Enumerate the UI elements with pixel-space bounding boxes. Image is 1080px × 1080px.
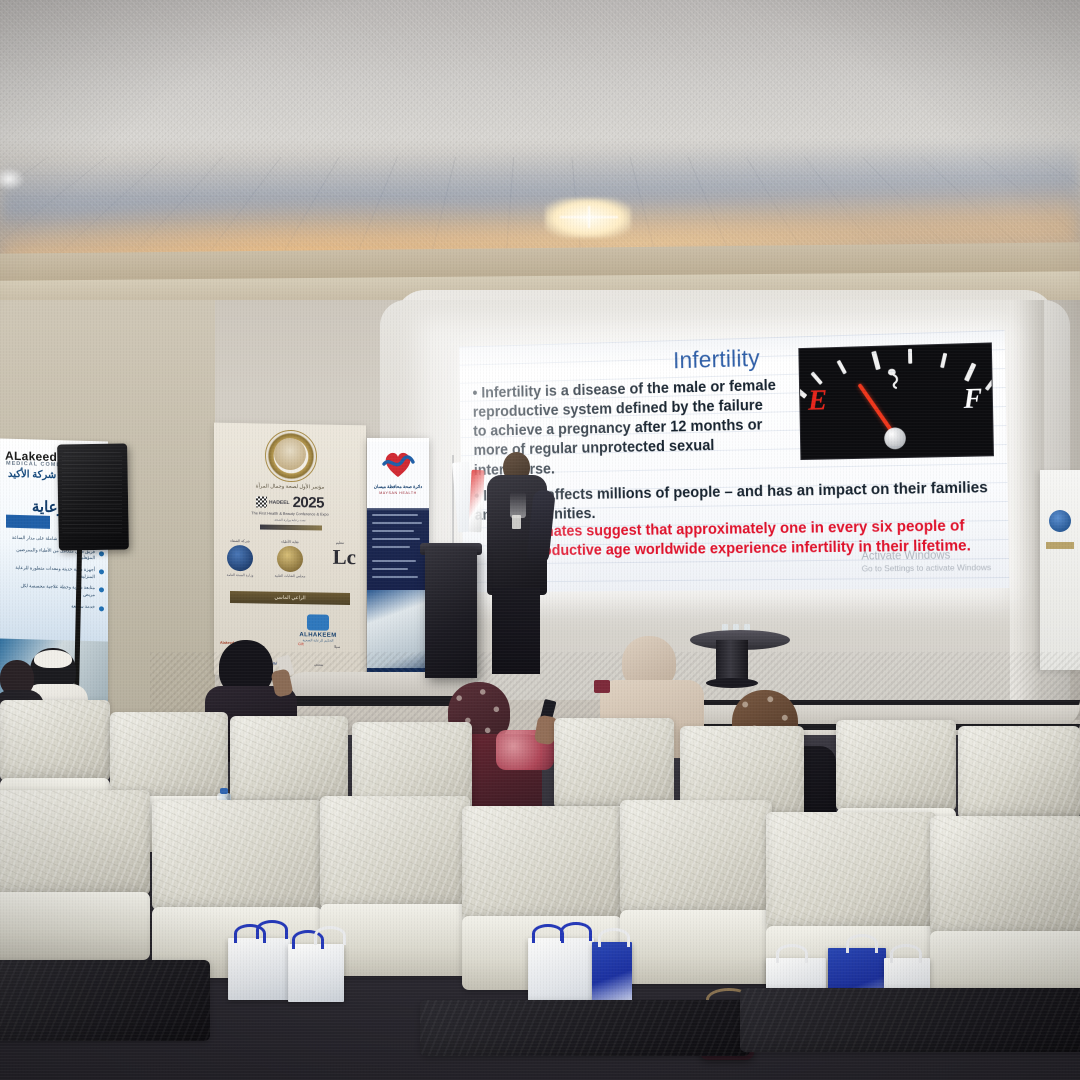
gauge-tick-3 [837,360,847,375]
sponsor-logo-1: شركة الشفاء وزارة الصحة العامة [220,539,260,578]
chair-back [836,720,956,811]
gauge-tick-4 [871,351,881,370]
blue-banner-line [372,530,414,532]
conference-english-sub: تحت رعاية وزارة الصحة [214,517,366,524]
sponsor-logo-2: نقابة الأطباء مجلس النقابات الطبية [270,540,310,579]
alhakeem-mark [307,614,329,630]
chair-back [420,1000,750,1056]
blue-banner-arabic-title: دائرة صحة محافظة ميسان [367,484,429,490]
conference-arabic-title: مؤتمر الأول لصحة وجمال المرأة [214,483,366,492]
blue-banner-latin-sub: MAYSAN HEALTH [367,491,429,495]
gift-bag[interactable] [592,942,632,1004]
chair-back [0,790,150,895]
activate-windows-watermark: Activate Windows Go to Settings to activ… [861,549,991,573]
mobile-phone [594,680,610,693]
chair-back [230,716,348,804]
gift-bag-handle [560,922,592,941]
small-logo-3: Gift [298,642,304,646]
fuel-pump-icon [885,368,907,394]
sponsor-2-disc [277,546,303,572]
small-logo-4: سيلا [334,645,340,649]
stage-front-curve-shadow [286,696,476,706]
chair[interactable] [0,960,210,1080]
stage-side-table-base [706,678,758,688]
attendee-hair-bow [34,650,72,668]
conference-seal-inner [274,438,306,471]
banner-right-pillar [1040,470,1080,670]
gift-bag-handle [846,934,878,953]
gift-bag-handle [890,944,922,963]
gift-bag-handle [314,926,346,945]
blue-banner-line [372,538,420,540]
chair-back [0,700,110,781]
chair-back [740,988,1080,1052]
chair-arm [0,892,150,960]
presenter-badge [512,515,521,529]
chair[interactable] [420,1000,750,1080]
activate-windows-line1: Activate Windows [861,549,991,562]
gauge-tick-5 [908,349,912,364]
bottle-cap [220,788,228,794]
chair-back [958,726,1080,819]
qr-code-icon [256,497,267,508]
conference-hall-photo: Infertility • Infertility is a disease o… [0,0,1080,1080]
banner-maysan-health: دائرة صحة محافظة ميسان MAYSAN HEALTH DR … [367,438,429,682]
chair-back [930,816,1080,935]
banner-conference-sponsors: مؤتمر الأول لصحة وجمال المرأة HADEEL2025… [214,423,366,678]
sponsor-2-caption2: مجلس النقابات الطبية [270,574,310,579]
slide-title: Infertility [673,345,760,375]
chair[interactable] [620,800,772,984]
chair-back [0,960,210,1041]
heart-medical-icon [381,446,415,480]
chair-back [110,712,228,799]
gift-bag-handle [776,944,808,963]
gauge-full-label: F [963,384,982,416]
chair-back [152,800,322,910]
gauge-tick-8 [985,377,994,391]
gift-bag[interactable] [228,938,290,1000]
gauge-empty-label: E [808,384,828,418]
blue-banner-line [372,576,418,578]
list-item: خدمة سريعة [8,601,104,610]
conference-year: 2025 [293,494,324,512]
chair-back [320,796,470,908]
gift-bag[interactable] [288,944,344,1002]
blue-banner-line [372,522,422,524]
podium [425,548,477,678]
blue-banner-line [372,560,416,562]
chair[interactable] [930,816,1080,1008]
sponsor-2-caption: نقابة الأطباء [270,540,310,545]
lc-logo: Lc [333,545,356,570]
blue-banner-line [372,546,410,548]
gauge-tick-7 [964,363,976,382]
gift-bag-handle [256,920,288,939]
chair-back [462,806,622,920]
alakeed-brand-arabic: شركة الأكيد [8,469,56,481]
chair[interactable] [0,790,150,960]
sponsor-1-caption2: وزارة الصحة العامة [220,573,260,578]
right-banner-logo [1049,510,1071,532]
hadeel-label: HADEEL [269,499,290,505]
conference-gold-bar [260,524,322,530]
blue-banner-line [372,568,408,570]
sponsor-1-disc [227,545,253,571]
sponsor-1-caption: شركة الشفاء [220,539,260,544]
ceiling-lamp-cross [560,206,618,228]
gift-bag[interactable] [528,938,594,1008]
gauge-tick-6 [940,353,947,368]
gauge-tick-1 [798,383,807,398]
alakeed-headline-highlight-bar [6,515,50,529]
list-item: متابعة دورية وخطة علاجية مخصصة لكل مريض [8,583,104,599]
pa-speaker-grille [62,452,122,534]
fuel-gauge-image: E F [798,342,994,460]
chair-arm [620,910,772,984]
gift-bag-handle [598,928,630,947]
activate-windows-line2: Go to Settings to activate Windows [862,562,992,573]
list-item: أجهزة طبية حديثة ومعدات متطورة للرعاية ا… [8,565,104,581]
presenter-legs [492,588,540,674]
stage-side-table-stem [716,640,748,682]
chair-back [620,800,772,914]
chair-back [766,812,936,930]
blue-banner-line [372,514,418,516]
gauge-hub [884,427,906,449]
chair-back [554,718,674,809]
diamond-sponsor-ribbon: الراعي الماسي [230,591,350,605]
alhakeem-logo: ALHAKEEM الحكيم للرعاية الصحية [288,614,348,643]
chair[interactable] [740,988,1080,1080]
right-banner-caption-bar [1046,542,1074,549]
